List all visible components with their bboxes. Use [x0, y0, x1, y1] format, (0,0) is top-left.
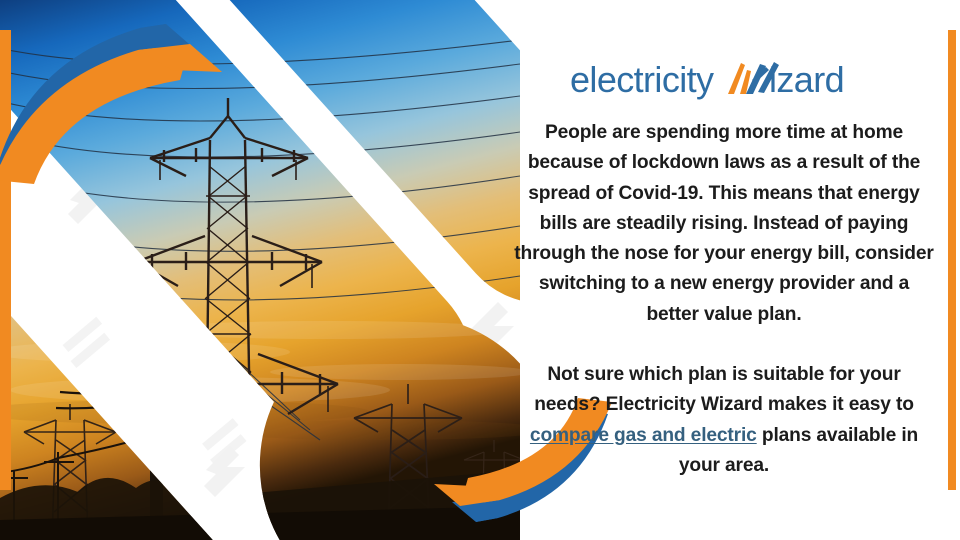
swoosh-decoration-top-left [0, 0, 290, 184]
paragraph-compare-plans: Not sure which plan is suitable for your… [512, 360, 936, 481]
paragraph-2-lead-in: Not sure which plan is suitable for your… [534, 364, 914, 415]
electricity-wizard-logo[interactable]: electricity izard [570, 58, 855, 104]
logo-word-electricity: electricity [570, 59, 714, 100]
paragraph-lockdown-energy-bills: People are spending more time at home be… [512, 118, 936, 330]
promo-copy: People are spending more time at home be… [512, 118, 936, 481]
promo-slide: electricity izard People are spending mo… [0, 0, 960, 540]
compare-gas-and-electric-link[interactable]: compare gas and electric [530, 425, 757, 446]
content-column: electricity izard People are spending mo… [500, 0, 948, 540]
right-orange-rule [948, 30, 956, 490]
logo-word-izard: izard [769, 59, 844, 100]
